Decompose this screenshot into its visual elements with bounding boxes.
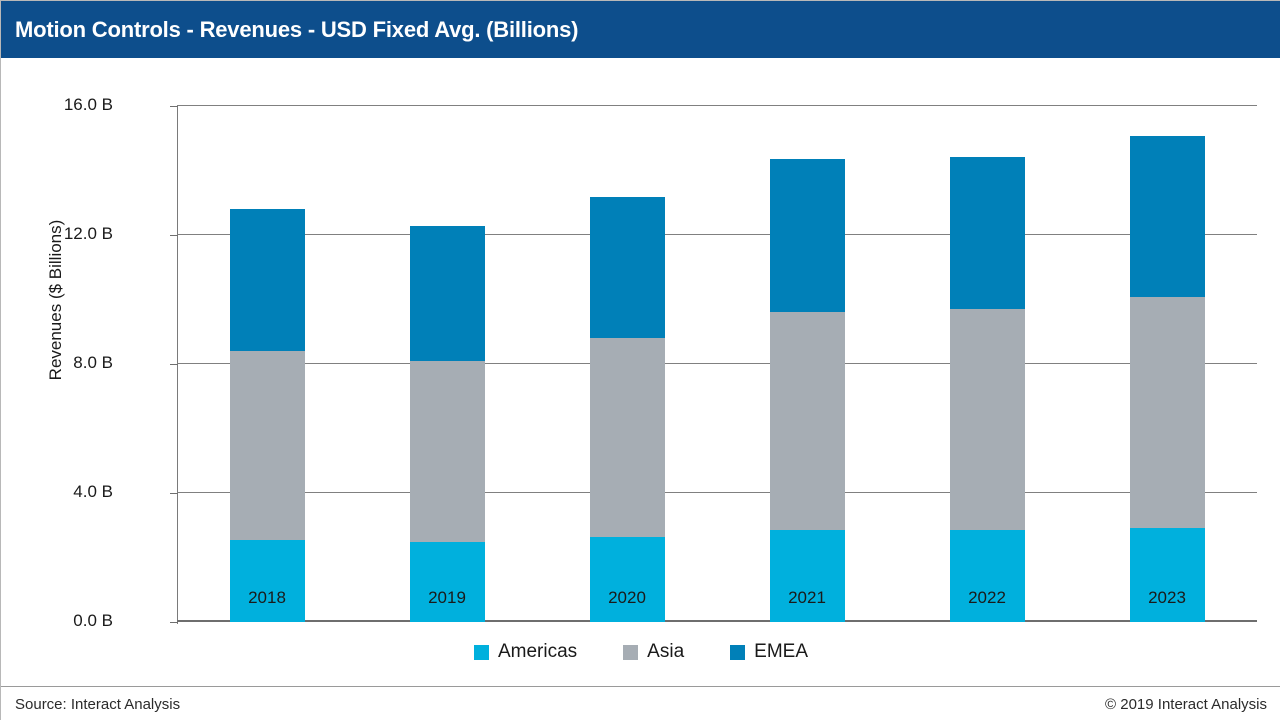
gridline xyxy=(177,620,1257,622)
source-label: Source: Interact Analysis xyxy=(15,696,180,713)
gridline xyxy=(177,234,1257,235)
bar-segment-asia[interactable] xyxy=(770,312,845,530)
x-tick-label: 2022 xyxy=(937,588,1037,608)
bar-segment-emea[interactable] xyxy=(770,159,845,312)
legend-swatch-icon xyxy=(474,645,489,660)
bar-segment-americas[interactable] xyxy=(770,530,845,622)
y-axis-title: Revenues ($ Billions) xyxy=(46,185,66,415)
bar-segment-asia[interactable] xyxy=(950,309,1025,530)
y-tick-label: 0.0 B xyxy=(13,611,113,631)
bar-group[interactable] xyxy=(410,106,485,622)
y-tick-label: 4.0 B xyxy=(13,482,113,502)
x-tick-label: 2020 xyxy=(577,588,677,608)
bar-segment-asia[interactable] xyxy=(410,361,485,542)
legend-label: Americas xyxy=(498,641,577,663)
y-tick-label: 16.0 B xyxy=(13,95,113,115)
legend: AmericasAsiaEMEA xyxy=(1,641,1280,663)
legend-swatch-icon xyxy=(730,645,745,660)
legend-label: Asia xyxy=(647,641,684,663)
x-tick-label: 2018 xyxy=(217,588,317,608)
y-tick-label: 12.0 B xyxy=(13,224,113,244)
bar-segment-asia[interactable] xyxy=(230,351,305,540)
legend-item-emea[interactable]: EMEA xyxy=(730,641,808,663)
copyright-label: © 2019 Interact Analysis xyxy=(1105,696,1267,713)
bar-segment-emea[interactable] xyxy=(230,209,305,351)
gridline xyxy=(177,492,1257,493)
bar-segment-emea[interactable] xyxy=(410,226,485,361)
legend-item-asia[interactable]: Asia xyxy=(623,641,684,663)
bar-group[interactable] xyxy=(950,106,1025,622)
bar-group[interactable] xyxy=(230,106,305,622)
legend-swatch-icon xyxy=(623,645,638,660)
chart-area: Revenues ($ Billions) 0.0 B4.0 B8.0 B12.… xyxy=(1,58,1280,686)
bar-group[interactable] xyxy=(1130,106,1205,622)
bar-segment-americas[interactable] xyxy=(410,542,485,622)
bar-group[interactable] xyxy=(770,106,845,622)
bar-segment-emea[interactable] xyxy=(950,157,1025,309)
page-title: Motion Controls - Revenues - USD Fixed A… xyxy=(1,17,578,43)
bar-segment-emea[interactable] xyxy=(590,197,665,338)
bar-group[interactable] xyxy=(590,106,665,622)
y-tick-label: 8.0 B xyxy=(13,353,113,373)
bar-segment-asia[interactable] xyxy=(590,338,665,538)
x-tick-label: 2021 xyxy=(757,588,857,608)
bar-segment-asia[interactable] xyxy=(1130,297,1205,527)
chart-page: Motion Controls - Revenues - USD Fixed A… xyxy=(0,0,1280,720)
bar-segment-americas[interactable] xyxy=(590,537,665,622)
legend-label: EMEA xyxy=(754,641,808,663)
footer: Source: Interact Analysis © 2019 Interac… xyxy=(1,686,1280,720)
gridline xyxy=(177,363,1257,364)
x-tick-label: 2019 xyxy=(397,588,497,608)
legend-item-americas[interactable]: Americas xyxy=(474,641,577,663)
plot-area xyxy=(177,106,1257,622)
bar-segment-americas[interactable] xyxy=(950,530,1025,622)
bar-segment-emea[interactable] xyxy=(1130,136,1205,297)
title-bar: Motion Controls - Revenues - USD Fixed A… xyxy=(1,1,1280,58)
y-tick-mark xyxy=(170,622,178,623)
x-tick-label: 2023 xyxy=(1117,588,1217,608)
gridline xyxy=(177,105,1257,106)
bar-segment-americas[interactable] xyxy=(230,540,305,622)
